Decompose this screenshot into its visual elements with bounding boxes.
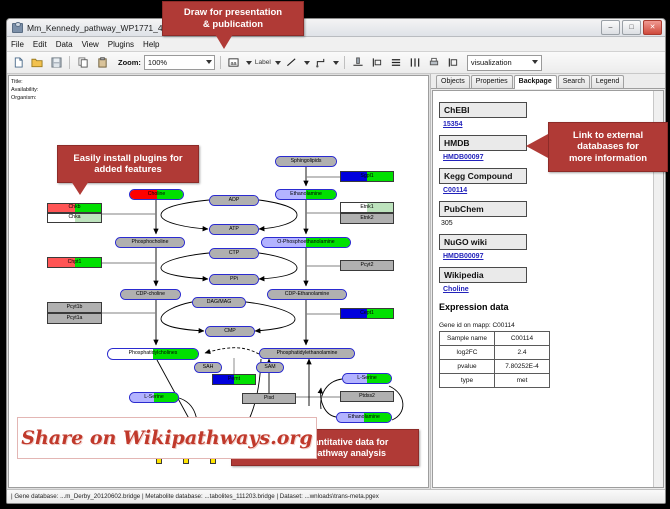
tab-legend[interactable]: Legend <box>591 75 624 88</box>
menu-item-view[interactable]: View <box>82 40 99 49</box>
callout-links: Link to external databases for more info… <box>548 122 668 172</box>
zoom-select[interactable]: 100% <box>144 55 215 70</box>
metabolite-node-cdp-choline[interactable]: CDP-choline <box>120 289 181 300</box>
node-label: CDP-choline <box>136 292 165 297</box>
nugo-link[interactable]: HMDB00097 <box>443 253 657 260</box>
expression-data-heading: Expression data <box>439 302 657 312</box>
line-icon[interactable] <box>284 55 300 71</box>
table-row: type met <box>440 374 550 388</box>
node-label: CDP-Ethanolamine <box>285 292 329 297</box>
metabolite-node-phosphocholine[interactable]: Phosphocholine <box>115 237 185 248</box>
toolbar-separator-1 <box>69 56 70 69</box>
screenshot-root: Mm_Kennedy_pathway_WP1771_45176.gpml – □… <box>0 0 670 509</box>
node-label: Phosphatidylethanolamine <box>277 351 338 356</box>
table-row: pvalue 7.80252E-4 <box>440 360 550 374</box>
node-label: Pcyt1a <box>67 316 83 321</box>
label-dropdown-label: Label <box>255 59 271 66</box>
menu-item-plugins[interactable]: Plugins <box>108 40 134 49</box>
side-panel-tabs: Objects Properties Backpage Search Legen… <box>431 74 665 89</box>
metabolite-node-dagmag[interactable]: DAG/MAG <box>192 297 246 308</box>
anchor-shape-icon[interactable]: aa <box>226 55 242 71</box>
callout-links-arrow <box>526 134 548 158</box>
metabolite-node-phosphatidylethanolamine[interactable]: Phosphatidylethanolamine <box>259 348 355 359</box>
status-text: | Gene database: ...m_Derby_20120602.bri… <box>11 493 379 500</box>
align-bottom-icon[interactable] <box>350 55 366 71</box>
toolbar-separator-3 <box>344 56 345 69</box>
save-icon[interactable] <box>48 55 64 71</box>
node-label: Chka <box>68 215 80 220</box>
node-label: PPi <box>230 277 238 282</box>
callout-plugins-arrow <box>71 181 89 195</box>
gene-id-line: Gene id on mapp: C00114 <box>439 322 657 329</box>
metabolite-node-ethanolamine-2[interactable]: Ethanolamine <box>336 412 392 423</box>
callout-draw-arrow <box>215 34 233 49</box>
node-label: CMP <box>224 329 236 334</box>
chevron-down-icon <box>206 60 212 64</box>
row-value: met <box>495 374 550 388</box>
visualization-select[interactable]: visualization <box>467 55 542 71</box>
node-label: Pemt <box>228 377 240 382</box>
metabolite-node-phosphatidylcholines[interactable]: Phosphatidylcholines <box>107 348 199 360</box>
node-label: L-Serine <box>357 376 377 381</box>
callout-links-line2: databases for <box>577 141 639 152</box>
close-button[interactable]: ✕ <box>643 20 662 35</box>
section-hmdb-heading: HMDB <box>439 135 527 151</box>
callout-plugins: Easily install plugins for added feature… <box>57 145 199 183</box>
tab-properties[interactable]: Properties <box>471 75 513 88</box>
metabolite-node-sphingolipids[interactable]: Sphingolipids <box>275 156 337 167</box>
node-label: Phosphocholine <box>132 240 169 245</box>
metabolite-node-l-serine-left[interactable]: L-Serine <box>129 392 179 403</box>
wikipedia-link[interactable]: Choline <box>443 286 657 293</box>
open-folder-icon[interactable] <box>29 55 45 71</box>
gene-node-chkb[interactable]: Chkb <box>47 203 102 213</box>
menu-item-help[interactable]: Help <box>143 40 159 49</box>
visualization-value: visualization <box>471 58 512 67</box>
pubchem-value: 305 <box>441 220 657 227</box>
row-label: Sample name <box>440 332 495 346</box>
callout-share-text: Share on Wikipathways.org <box>21 427 312 449</box>
row-label: log2FC <box>440 346 495 360</box>
callout-draw: Draw for presentation & publication <box>162 1 304 36</box>
print-icon[interactable] <box>426 55 442 71</box>
table-row: log2FC 2.4 <box>440 346 550 360</box>
callout-share: Share on Wikipathways.org <box>17 417 317 459</box>
tab-search[interactable]: Search <box>558 75 590 88</box>
maximize-button[interactable]: □ <box>622 20 641 35</box>
row-value: 2.4 <box>495 346 550 360</box>
node-label: Chpt1 <box>68 260 82 265</box>
metabolite-node-atp[interactable]: ATP <box>209 224 259 235</box>
node-label: Sgpl1 <box>360 174 373 179</box>
node-label: Sphingolipids <box>291 159 322 164</box>
kegg-link[interactable]: C00114 <box>443 187 657 194</box>
gene-node-pemt[interactable]: Pemt <box>212 374 256 385</box>
section-kegg-heading: Kegg Compound <box>439 168 527 184</box>
node-label: O-Phosphoethanolamine <box>277 240 334 245</box>
metabolite-node-adp[interactable]: ADP <box>209 195 259 206</box>
row-label: pvalue <box>440 360 495 374</box>
node-label: Phosphatidylcholines <box>129 351 178 356</box>
metabolite-node-sam[interactable]: SAM <box>256 362 284 373</box>
chevron-down-icon[interactable] <box>246 61 252 65</box>
status-bar: | Gene database: ...m_Derby_20120602.bri… <box>7 489 665 503</box>
section-pubchem-heading: PubChem <box>439 201 527 217</box>
table-row: Sample name C00114 <box>440 332 550 346</box>
distribute-icon[interactable] <box>407 55 423 71</box>
metabolite-node-cmp[interactable]: CMP <box>205 326 255 337</box>
copy-icon[interactable] <box>75 55 91 71</box>
metabolite-node-choline[interactable]: Choline <box>129 189 184 200</box>
node-label: SAH <box>203 365 214 370</box>
node-label: CTP <box>229 251 239 256</box>
gene-node-cept1[interactable]: Cept1 <box>340 308 394 319</box>
node-label: L-Serine <box>144 395 164 400</box>
gene-node-chpt1[interactable]: Chpt1 <box>47 257 102 268</box>
section-nugo-heading: NuGO wiki <box>439 234 527 250</box>
node-label: DAG/MAG <box>207 300 232 305</box>
gene-node-sgpl1[interactable]: Sgpl1 <box>340 171 394 182</box>
menu-item-edit[interactable]: Edit <box>33 40 47 49</box>
tab-backpage[interactable]: Backpage <box>514 75 557 89</box>
node-label: Ethanolamine <box>290 192 322 197</box>
node-label: Pcyt1b <box>67 305 83 310</box>
row-value: 7.80252E-4 <box>495 360 550 374</box>
gene-node-pcyt1b[interactable]: Pcyt1b <box>47 302 102 313</box>
node-label: Pisd <box>264 396 274 401</box>
zoom-label: Zoom: <box>118 58 141 67</box>
tab-objects[interactable]: Objects <box>436 75 470 88</box>
callout-plugins-line1: Easily install plugins for <box>73 153 182 164</box>
chevron-down-icon[interactable] <box>304 61 310 65</box>
callout-links-line1: Link to external <box>573 130 643 141</box>
chevron-down-icon[interactable] <box>333 61 339 65</box>
callout-draw-line1: Draw for presentation <box>184 7 282 18</box>
menu-item-data[interactable]: Data <box>56 40 73 49</box>
metabolite-node-ctp[interactable]: CTP <box>209 248 259 259</box>
metabolite-node-cdp-ethanolamine[interactable]: CDP-Ethanolamine <box>267 289 347 300</box>
chevron-down-icon[interactable] <box>275 61 281 65</box>
new-file-icon[interactable] <box>10 55 26 71</box>
node-label: SAM <box>264 365 275 370</box>
svg-text:aa: aa <box>231 61 238 67</box>
menu-bar: File Edit Data View Plugins Help <box>7 37 665 52</box>
row-value: C00114 <box>495 332 550 346</box>
callout-links-line3: more information <box>569 153 647 164</box>
window-controls: – □ ✕ <box>601 20 662 35</box>
node-label: Etnk1 <box>360 205 373 210</box>
callout-draw-line2: & publication <box>203 19 263 30</box>
node-label: Pcyt2 <box>361 263 374 268</box>
callout-plugins-line2: added features <box>94 164 162 175</box>
expression-table: Sample name C00114 log2FC 2.4 pvalue 7.8… <box>439 331 550 388</box>
node-label: Chkb <box>68 205 80 210</box>
node-label: Ptdss2 <box>359 394 375 399</box>
minimize-button[interactable]: – <box>601 20 620 35</box>
gene-node-pcyt2[interactable]: Pcyt2 <box>340 260 394 271</box>
gene-node-chka[interactable]: Chka <box>47 213 102 223</box>
section-wikipedia-heading: Wikipedia <box>439 267 527 283</box>
main-toolbar: Zoom: 100% aa Label <box>7 52 665 74</box>
zoom-value: 100% <box>148 58 167 67</box>
gene-node-etnk1[interactable]: Etnk1 <box>340 202 394 213</box>
gene-node-etnk2[interactable]: Etnk2 <box>340 213 394 224</box>
section-chebi-heading: ChEBI <box>439 102 527 118</box>
node-label: Choline <box>148 192 166 197</box>
metabolite-node-l-serine-right[interactable]: L-Serine <box>342 373 392 384</box>
node-label: Ethanolamine <box>348 415 380 420</box>
chevron-down-icon <box>532 60 538 64</box>
align-left-icon[interactable] <box>369 55 385 71</box>
stack-icon[interactable] <box>388 55 404 71</box>
gene-node-pcyt1a[interactable]: Pcyt1a <box>47 313 102 324</box>
node-label: ADP <box>229 198 240 203</box>
row-label: type <box>440 374 495 388</box>
app-icon <box>12 22 23 33</box>
gene-node-pisd[interactable]: Pisd <box>242 393 296 404</box>
connector-icon[interactable] <box>313 55 329 71</box>
metabolite-node-ethanolamine[interactable]: Ethanolamine <box>275 189 337 200</box>
metabolite-node-o-phosphoethanolamine[interactable]: O-Phosphoethanolamine <box>261 237 351 248</box>
order-icon[interactable] <box>445 55 461 71</box>
node-label: Cept1 <box>360 311 374 316</box>
gene-node-ptdss2[interactable]: Ptdss2 <box>340 391 394 402</box>
node-label: ATP <box>229 227 239 232</box>
menu-item-file[interactable]: File <box>11 40 24 49</box>
metabolite-node-sah[interactable]: SAH <box>194 362 222 373</box>
metabolite-node-ppi[interactable]: PPi <box>209 274 259 285</box>
node-label: Etnk2 <box>360 216 373 221</box>
window-title-bar: Mm_Kennedy_pathway_WP1771_45176.gpml – □… <box>7 19 665 37</box>
toolbar-separator-2 <box>220 56 221 69</box>
paste-icon[interactable] <box>94 55 110 71</box>
